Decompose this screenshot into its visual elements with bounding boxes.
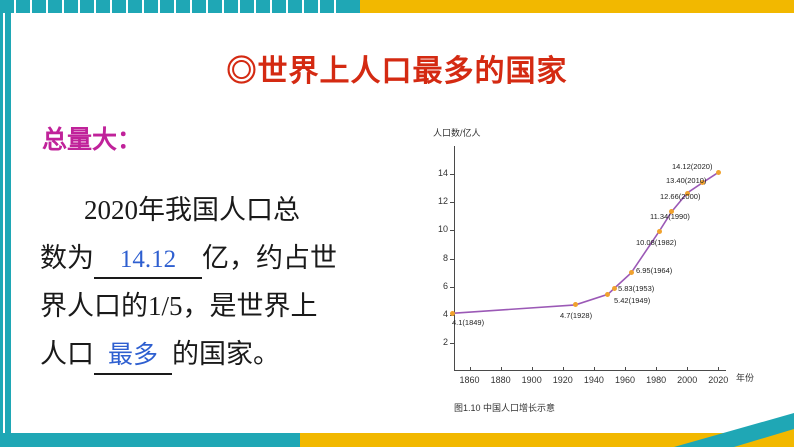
data-point-1982 (657, 229, 662, 234)
blank-number-field[interactable]: 14.12 (94, 243, 202, 279)
x-tick-label-1980: 1980 (641, 375, 671, 385)
x-tick-label-1860: 1860 (455, 375, 485, 385)
data-label-2010: 13.40(2010) (666, 176, 706, 185)
x-tick-label-2000: 2000 (672, 375, 702, 385)
data-label-1928: 4.7(1928) (560, 311, 592, 320)
x-tick-label-2020: 2020 (703, 375, 733, 385)
data-label-1964: 6.95(1964) (636, 266, 672, 275)
data-point-1849 (450, 311, 455, 316)
y-tick-label-4: 4 (432, 309, 448, 319)
page-title: ◎世界上人口最多的国家 (0, 46, 794, 90)
data-label-2020: 14.12(2020) (672, 162, 712, 171)
slide-canvas: ◎世界上人口最多的国家 总量大： 2020年我国人口总 数为14.12亿，约占世… (0, 0, 794, 447)
chart-caption: 图1.10 中国人口增长示意 (454, 401, 555, 414)
line1-text: 2020年我国人口总 (84, 195, 300, 225)
data-label-2000: 12.66(2000) (660, 192, 700, 201)
paragraph-line-2: 数为14.12亿，约占世 (40, 234, 430, 282)
data-label-1982: 10.08(1982) (636, 238, 676, 247)
paragraph-line-4: 人口最多的国家。 (40, 330, 430, 378)
y-tick-label-14: 14 (432, 168, 448, 178)
paragraph-line-3: 界人口的1/5，是世界上 (40, 282, 430, 330)
blank-word-field[interactable]: 最多 (94, 339, 172, 375)
line3-text: 界人口的1/5，是世界上 (40, 291, 318, 321)
bottom-teal-bar (0, 433, 300, 447)
data-label-1949: 5.42(1949) (614, 296, 650, 305)
data-label-1849: 4.1(1849) (452, 318, 484, 327)
y-tick-label-2: 2 (432, 337, 448, 347)
line2-suffix: 亿，约占世 (202, 243, 337, 273)
y-tick-label-12: 12 (432, 196, 448, 206)
y-tick-label-10: 10 (432, 224, 448, 234)
corner-triangle-yellow (734, 429, 794, 447)
x-tick-label-1920: 1920 (548, 375, 578, 385)
line4-prefix: 人口 (40, 339, 94, 369)
data-label-1953: 5.83(1953) (618, 284, 654, 293)
chart-y-axis-label: 人口数/亿人 (433, 126, 481, 139)
y-tick-label-6: 6 (432, 281, 448, 291)
x-tick-label-1900: 1900 (517, 375, 547, 385)
subhead-label: 总量大： (42, 120, 142, 156)
x-tick-label-1940: 1940 (579, 375, 609, 385)
data-point-1953 (612, 286, 617, 291)
line4-suffix: 的国家。 (172, 339, 280, 369)
chart-plot-area: 2 4 6 8 10 12 14 1860 1880 1900 1920 194… (454, 146, 726, 371)
data-point-2020 (716, 170, 721, 175)
paragraph-line-1: 2020年我国人口总 (40, 186, 430, 234)
body-paragraph: 2020年我国人口总 数为14.12亿，约占世 界人口的1/5，是世界上 人口最… (40, 186, 430, 378)
x-tick-label-1960: 1960 (610, 375, 640, 385)
x-tick-label-1880: 1880 (486, 375, 516, 385)
line2-prefix: 数为 (40, 243, 94, 273)
data-label-1990: 11.34(1990) (650, 212, 690, 221)
population-growth-chart: 人口数/亿人 2 4 6 8 10 12 14 1860 1880 (424, 126, 764, 414)
top-tick-marks (0, 0, 360, 13)
y-tick-label-8: 8 (432, 253, 448, 263)
chart-x-axis-label: 年份 (736, 371, 754, 384)
